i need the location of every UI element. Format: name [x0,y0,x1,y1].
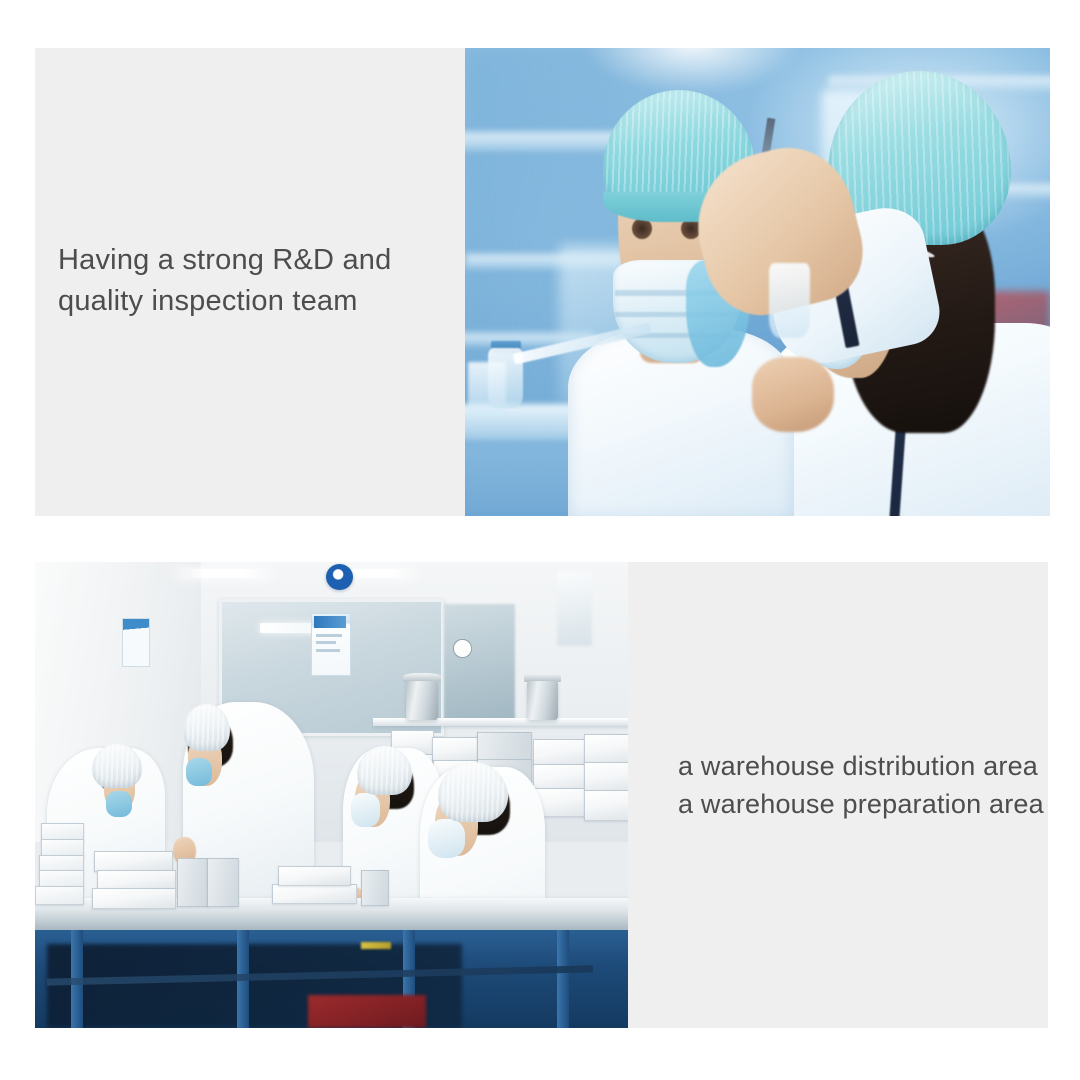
carton-box [35,886,84,905]
lab-scene-illustration [465,48,1050,516]
notice-line [316,649,340,652]
face-mask [186,758,212,786]
bottom-caption-line-2: a warehouse preparation area [678,785,1080,823]
packing-scene-illustration [35,562,628,1028]
interior-window-right [444,604,515,725]
wall-notice-left [122,618,150,667]
hair-net [92,744,142,787]
carton-box-upright [207,858,239,907]
poster-canvas: Having a strong R&D and quality inspecti… [0,0,1080,1080]
carton-box-upright [177,858,209,907]
steel-pot [527,681,558,721]
face-mask [351,793,379,827]
ceiling-duct [557,571,593,646]
top-section: Having a strong R&D and quality inspecti… [35,48,1050,516]
carton-box [584,762,628,793]
hair-net [183,704,230,751]
top-caption-line-2: quality inspection team [58,281,458,322]
face-mask [106,791,132,816]
hair-net [438,762,508,822]
bottom-caption-text: a warehouse distribution area a warehous… [678,747,1080,823]
rd-quality-inspection-photo [465,48,1050,516]
floor-marking [361,942,391,949]
carton-box [278,866,351,886]
notice-board-header [314,616,346,628]
carton-box [272,884,357,905]
top-caption-text: Having a strong R&D and quality inspecti… [58,240,458,322]
bottom-caption-panel: a warehouse distribution area a warehous… [628,562,1048,1028]
carton-box [584,790,628,821]
notice-line [316,641,336,644]
table-leg [557,930,569,1028]
bottom-caption-line-1: a warehouse distribution area [678,747,1080,785]
lower-hand [752,357,834,432]
ceiling-light [177,569,272,578]
glass-vial [769,263,810,338]
carton-box [477,732,532,762]
face-mask [428,819,465,858]
hair-net [357,746,411,795]
wall-sign-icon [326,564,353,590]
top-caption-line-1: Having a strong R&D and [58,240,458,281]
top-caption-panel: Having a strong R&D and quality inspecti… [35,48,465,516]
bottom-section: a warehouse distribution area a warehous… [35,562,1048,1028]
red-floor-area [308,995,427,1028]
notice-line [316,634,342,637]
warehouse-packing-photo [35,562,628,1028]
carton-box-upright [361,870,389,907]
steel-pot [406,681,438,721]
carton-box [92,888,176,909]
carton-box [584,734,628,765]
